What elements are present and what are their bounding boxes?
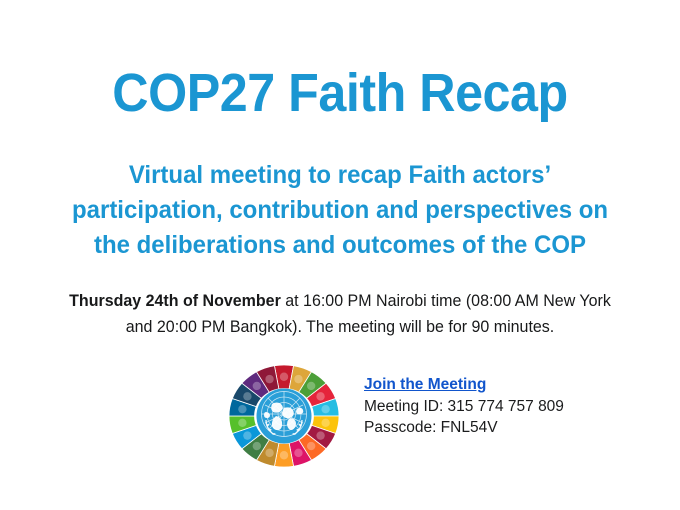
faith-symbol-icon: [238, 405, 246, 413]
page-title: COP27 Faith Recap: [24, 62, 656, 124]
faith-symbol-icon: [294, 449, 302, 457]
subtitle-line-3: the deliberations and outcomes of the CO…: [50, 228, 630, 263]
faith-symbol-icon: [280, 451, 288, 459]
meeting-id: Meeting ID: 315 774 757 809: [364, 396, 654, 417]
event-details-paragraph: Thursday 24th of November at 16:00 PM Na…: [64, 288, 617, 340]
join-meeting-link[interactable]: Join the Meeting: [364, 374, 486, 395]
faith-symbol-icon: [265, 449, 273, 457]
faith-symbol-icon: [238, 419, 246, 427]
faith-symbol-icon: [280, 373, 288, 381]
faith-symbol-icon: [321, 405, 329, 413]
faith-symbol-icon: [253, 382, 261, 390]
subtitle-line-1: Virtual meeting to recap Faith actors’: [50, 158, 630, 193]
faith-symbol-icon: [307, 442, 315, 450]
footer-section: Join the Meeting Meeting ID: 315 774 757…: [0, 362, 680, 472]
event-date: Thursday 24th of November: [69, 292, 281, 310]
faith-symbol-icon: [243, 431, 251, 439]
meeting-passcode: Passcode: FNL54V: [364, 417, 654, 438]
subtitle-line-2: participation, contribution and perspect…: [50, 193, 630, 228]
faith-symbol-icon: [253, 442, 261, 450]
subtitle: Virtual meeting to recap Faith actors’ p…: [50, 158, 630, 263]
faith-symbol-icon: [265, 375, 273, 383]
faith-symbol-icon: [294, 375, 302, 383]
meeting-details: Join the Meeting Meeting ID: 315 774 757…: [364, 374, 654, 438]
un-multi-faith-sdg-wheel-logo: [228, 364, 340, 468]
faith-symbol-icon: [307, 382, 315, 390]
faith-symbol-icon: [316, 431, 324, 439]
flyer-canvas: COP27 Faith Recap Virtual meeting to rec…: [0, 0, 680, 510]
faith-symbol-icon: [243, 392, 251, 400]
faith-symbol-icon: [321, 419, 329, 427]
faith-symbol-icon: [316, 392, 324, 400]
